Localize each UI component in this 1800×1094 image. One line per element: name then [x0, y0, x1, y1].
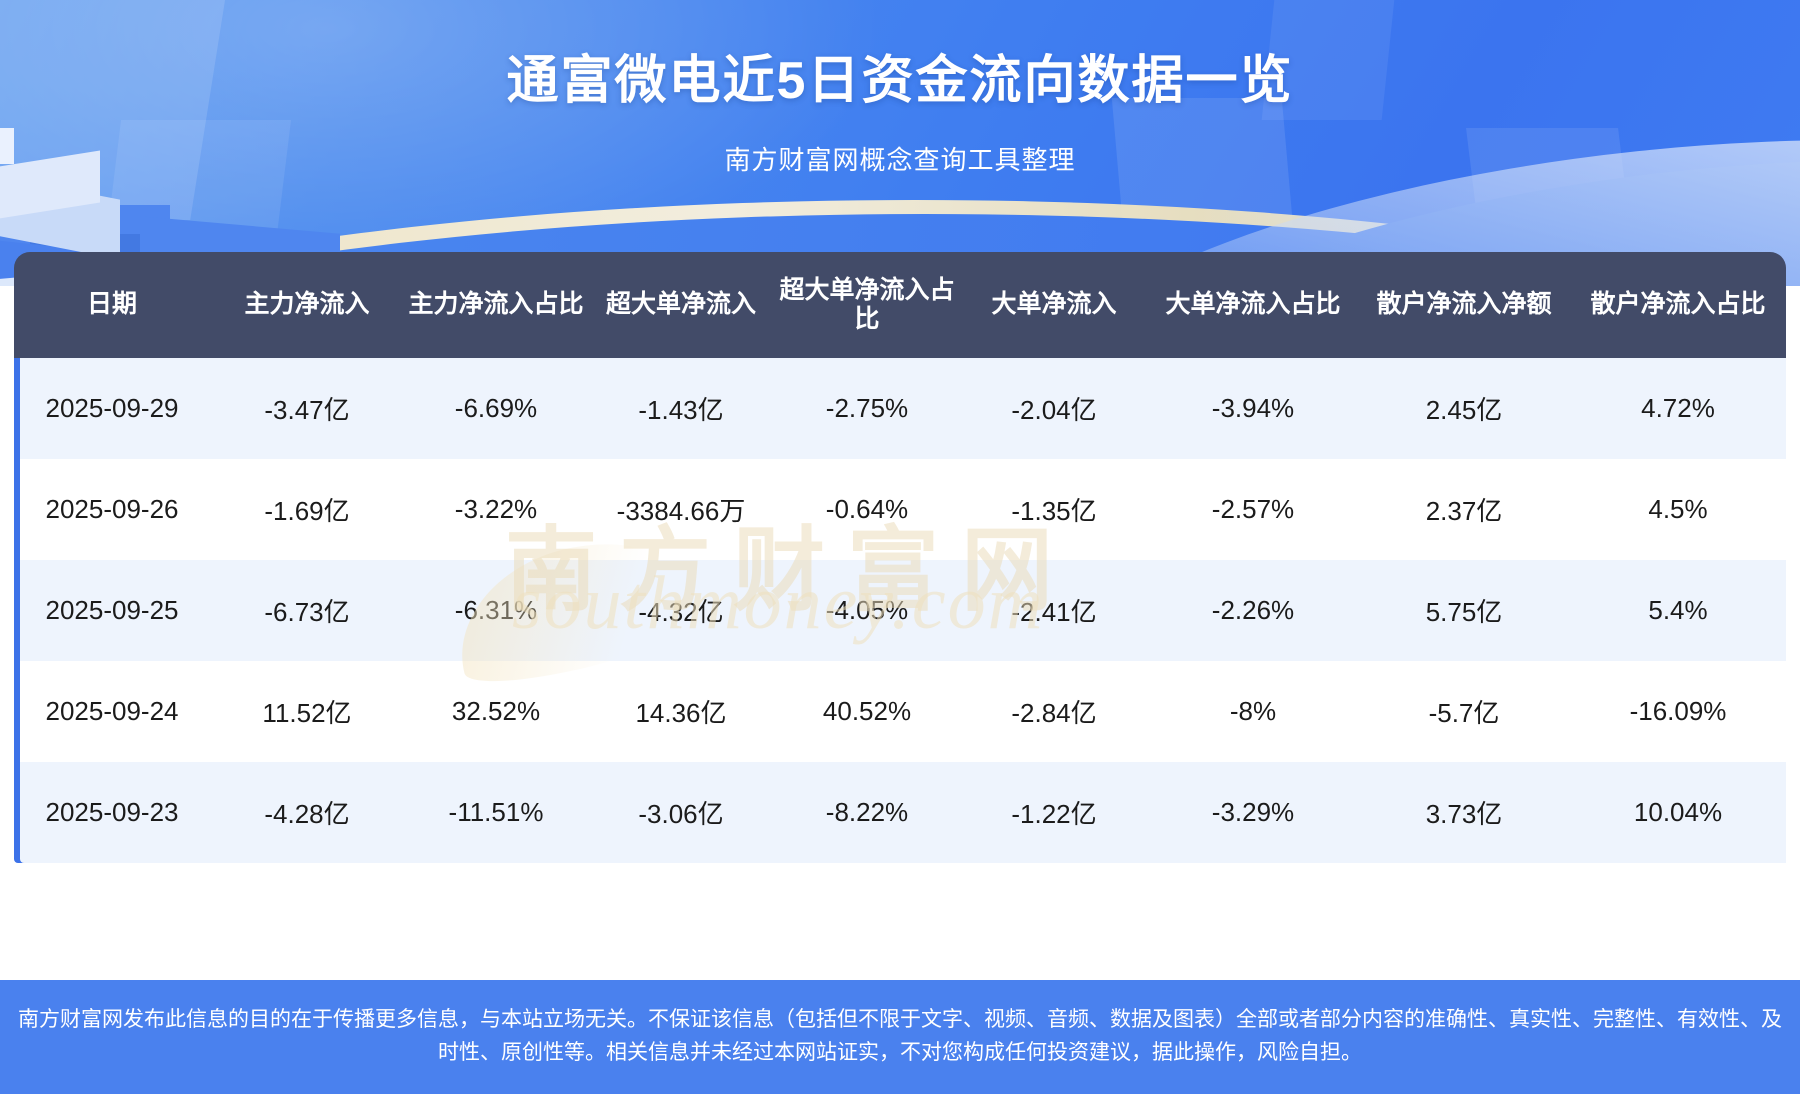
cell-lg-pct: -3.29% [1148, 762, 1358, 863]
cell-lg-net: -2.84亿 [960, 661, 1148, 762]
cell-retail-pct: 5.4% [1570, 560, 1786, 661]
cell-lg-pct: -2.57% [1148, 459, 1358, 560]
cell-xl-net: -4.32亿 [588, 560, 774, 661]
disclaimer-text: 南方财富网发布此信息的目的在于传播更多信息，与本站立场无关。不保证该信息（包括但… [15, 1004, 1785, 1069]
cell-xl-pct: -4.05% [774, 560, 960, 661]
col-header-retail-pct[interactable]: 散户净流入占比 [1570, 252, 1786, 358]
col-header-main-pct[interactable]: 主力净流入占比 [404, 252, 588, 358]
disclaimer-footer: 南方财富网发布此信息的目的在于传播更多信息，与本站立场无关。不保证该信息（包括但… [0, 980, 1800, 1094]
table-row[interactable]: 2025-09-29 -3.47亿 -6.69% -1.43亿 -2.75% -… [14, 358, 1786, 459]
table-row[interactable]: 2025-09-25 -6.73亿 -6.31% -4.32亿 -4.05% -… [14, 560, 1786, 661]
fund-flow-table: 日期 主力净流入 主力净流入占比 超大单净流入 超大单净流入占比 大单净流入 大… [14, 252, 1786, 863]
cell-main-net: 11.52亿 [210, 661, 404, 762]
cell-xl-pct: -8.22% [774, 762, 960, 863]
cell-lg-net: -1.35亿 [960, 459, 1148, 560]
page-title: 通富微电近5日资金流向数据一览 [0, 38, 1800, 113]
cell-lg-net: -1.22亿 [960, 762, 1148, 863]
page-root: 通富微电近5日资金流向数据一览 南方财富网概念查询工具整理 日期 主力净流入 主… [0, 0, 1800, 1094]
cell-main-pct: 32.52% [404, 661, 588, 762]
table-header-row: 日期 主力净流入 主力净流入占比 超大单净流入 超大单净流入占比 大单净流入 大… [14, 252, 1786, 358]
table-row[interactable]: 2025-09-26 -1.69亿 -3.22% -3384.66万 -0.64… [14, 459, 1786, 560]
col-header-xl-net[interactable]: 超大单净流入 [588, 252, 774, 358]
cell-date: 2025-09-25 [14, 560, 210, 661]
cell-lg-pct: -3.94% [1148, 358, 1358, 459]
cell-main-pct: -6.69% [404, 358, 588, 459]
cell-main-pct: -11.51% [404, 762, 588, 863]
cell-xl-pct: -0.64% [774, 459, 960, 560]
cell-retail-pct: 4.5% [1570, 459, 1786, 560]
col-header-retail-net[interactable]: 散户净流入净额 [1358, 252, 1570, 358]
cell-xl-pct: 40.52% [774, 661, 960, 762]
cell-xl-net: 14.36亿 [588, 661, 774, 762]
cell-retail-pct: -16.09% [1570, 661, 1786, 762]
cell-retail-net: 3.73亿 [1358, 762, 1570, 863]
data-table-container: 日期 主力净流入 主力净流入占比 超大单净流入 超大单净流入占比 大单净流入 大… [14, 252, 1786, 863]
cell-main-net: -6.73亿 [210, 560, 404, 661]
cell-date: 2025-09-26 [14, 459, 210, 560]
cell-xl-net: -3.06亿 [588, 762, 774, 863]
col-header-main-net[interactable]: 主力净流入 [210, 252, 404, 358]
cell-retail-pct: 10.04% [1570, 762, 1786, 863]
col-header-xl-pct[interactable]: 超大单净流入占比 [774, 252, 960, 358]
cell-main-net: -1.69亿 [210, 459, 404, 560]
col-header-lg-pct[interactable]: 大单净流入占比 [1148, 252, 1358, 358]
table-row[interactable]: 2025-09-23 -4.28亿 -11.51% -3.06亿 -8.22% … [14, 762, 1786, 863]
cell-retail-net: 2.37亿 [1358, 459, 1570, 560]
cell-date: 2025-09-23 [14, 762, 210, 863]
cell-lg-pct: -2.26% [1148, 560, 1358, 661]
cell-lg-net: -2.41亿 [960, 560, 1148, 661]
cell-xl-net: -1.43亿 [588, 358, 774, 459]
cell-date: 2025-09-24 [14, 661, 210, 762]
table-row[interactable]: 2025-09-24 11.52亿 32.52% 14.36亿 40.52% -… [14, 661, 1786, 762]
cell-date: 2025-09-29 [14, 358, 210, 459]
cell-lg-net: -2.04亿 [960, 358, 1148, 459]
header-banner: 通富微电近5日资金流向数据一览 南方财富网概念查询工具整理 [0, 0, 1800, 286]
cell-xl-pct: -2.75% [774, 358, 960, 459]
cell-retail-net: 5.75亿 [1358, 560, 1570, 661]
cell-main-pct: -3.22% [404, 459, 588, 560]
cell-main-pct: -6.31% [404, 560, 588, 661]
col-header-date[interactable]: 日期 [14, 252, 210, 358]
table-body: 2025-09-29 -3.47亿 -6.69% -1.43亿 -2.75% -… [14, 358, 1786, 863]
cell-main-net: -4.28亿 [210, 762, 404, 863]
cell-retail-net: -5.7亿 [1358, 661, 1570, 762]
cell-retail-net: 2.45亿 [1358, 358, 1570, 459]
cell-lg-pct: -8% [1148, 661, 1358, 762]
cell-xl-net: -3384.66万 [588, 459, 774, 560]
table-head: 日期 主力净流入 主力净流入占比 超大单净流入 超大单净流入占比 大单净流入 大… [14, 252, 1786, 358]
cell-main-net: -3.47亿 [210, 358, 404, 459]
page-subtitle: 南方财富网概念查询工具整理 [0, 140, 1800, 177]
cell-retail-pct: 4.72% [1570, 358, 1786, 459]
col-header-lg-net[interactable]: 大单净流入 [960, 252, 1148, 358]
